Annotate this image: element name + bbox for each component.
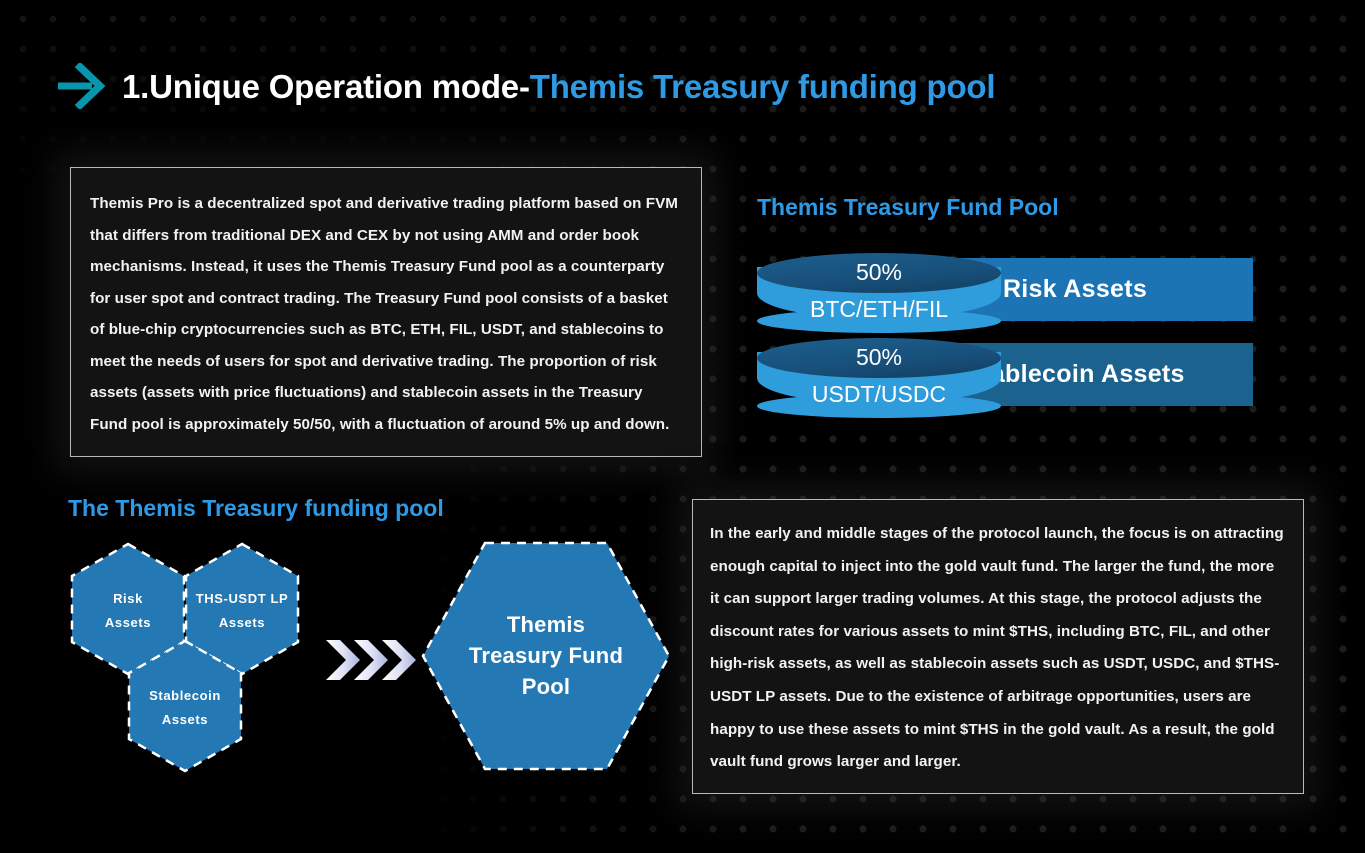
risk-assets-tokens: BTC/ETH/FIL — [757, 296, 1001, 323]
page-title-prefix: 1.Unique Operation mode- — [122, 68, 530, 105]
funding-pool-diagram: Risk Assets THS-USDT LP Assets Stablecoi… — [62, 534, 682, 784]
protocol-launch-text-panel: In the early and middle stages of the pr… — [692, 499, 1304, 794]
risk-assets-percent: 50% — [757, 259, 1001, 286]
fund-pool-row-risk-assets: Risk Assets 50% BTC/ETH/FIL — [757, 253, 1253, 333]
risk-assets-bar-label: Risk Assets — [1003, 275, 1147, 304]
funding-pool-section-title: The Themis Treasury funding pool — [68, 495, 444, 522]
intro-text-panel: Themis Pro is a decentralized spot and d… — [70, 167, 702, 457]
stablecoin-assets-cylinder: 50% USDT/USDC — [757, 338, 1001, 418]
page-title-highlight: Themis Treasury funding pool — [530, 68, 996, 105]
hexagon-stablecoin-assets: Stablecoin Assets — [127, 639, 243, 773]
page-title-text: 1.Unique Operation mode-Themis Treasury … — [122, 70, 995, 103]
protocol-launch-text-body: In the early and middle stages of the pr… — [710, 518, 1287, 779]
triple-chevron-right-icon — [324, 634, 416, 686]
hexagon-themis-treasury-fund-pool: Themis Treasury Fund Pool — [420, 540, 672, 772]
fund-pool-row-stablecoin-assets: Stablecoin Assets 50% USDT/USDC — [757, 338, 1253, 418]
stablecoin-assets-percent: 50% — [757, 344, 1001, 371]
risk-assets-cylinder: 50% BTC/ETH/FIL — [757, 253, 1001, 333]
fund-pool-section-title: Themis Treasury Fund Pool — [757, 194, 1059, 221]
arrow-right-icon — [54, 63, 106, 109]
intro-text-body: Themis Pro is a decentralized spot and d… — [90, 188, 678, 440]
page-title: 1.Unique Operation mode-Themis Treasury … — [54, 63, 995, 109]
stablecoin-assets-tokens: USDT/USDC — [757, 381, 1001, 408]
